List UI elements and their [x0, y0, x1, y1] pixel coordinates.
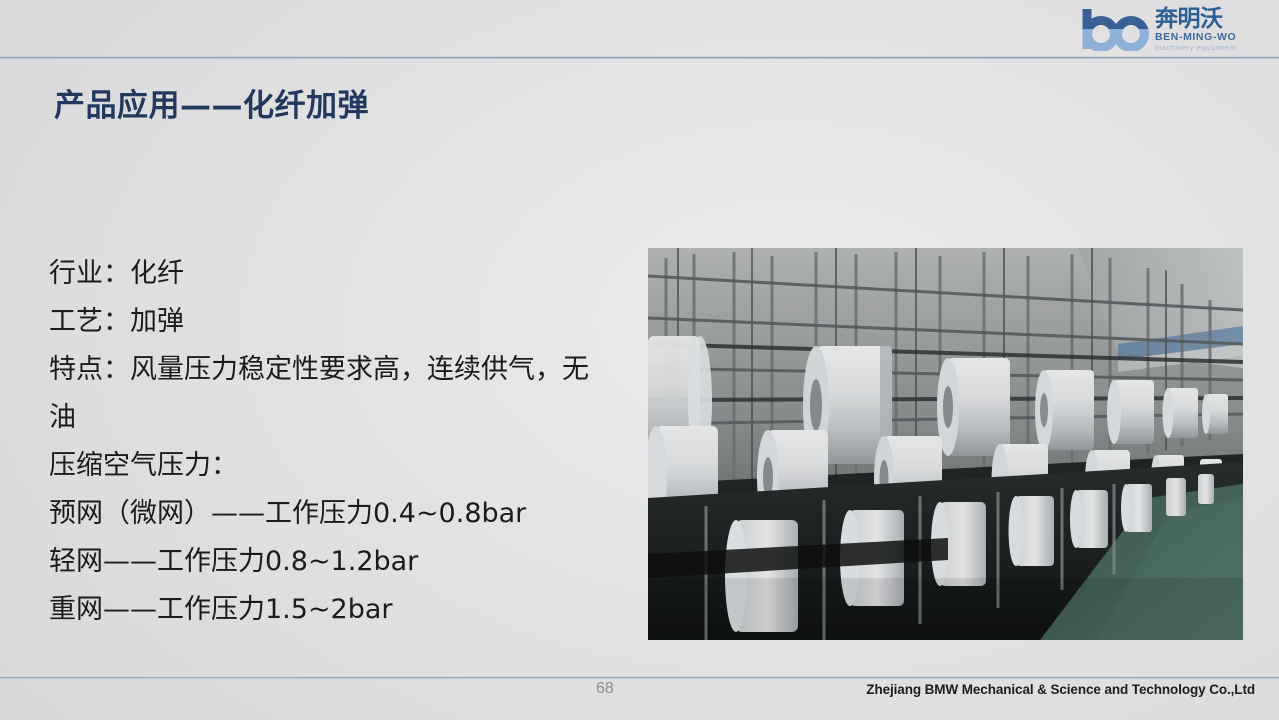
content-text-block: 行业：化纤 工艺：加弹 特点：风量压力稳定性要求高，连续供气，无油 压缩空气压力…	[49, 250, 609, 634]
company-logo: 奔明沃 BEN-MING-WO machinery equipment	[1081, 3, 1273, 55]
content-line-heavy-network: 重网——工作压力1.5~2bar	[49, 586, 609, 634]
page-number: 68	[596, 680, 614, 698]
content-line-process: 工艺：加弹	[49, 298, 609, 346]
page-title: 产品应用——化纤加弹	[54, 80, 369, 125]
bo-monogram-icon	[1081, 7, 1153, 51]
logo-tagline: machinery equipment	[1155, 43, 1236, 52]
chemical-fiber-texturing-machine-photo	[648, 248, 1243, 640]
content-line-pressure-heading: 压缩空气压力：	[49, 442, 609, 490]
content-line-light-network: 轻网——工作压力0.8~1.2bar	[49, 538, 609, 586]
content-line-industry: 行业：化纤	[49, 250, 609, 298]
logo-chinese-name: 奔明沃	[1155, 7, 1236, 31]
slide: 奔明沃 BEN-MING-WO machinery equipment 产品应用…	[0, 0, 1279, 720]
content-line-features: 特点：风量压力稳定性要求高，连续供气，无油	[49, 346, 605, 442]
header-divider-rule	[0, 56, 1279, 59]
footer-divider-rule	[0, 676, 1279, 679]
content-line-pre-network: 预网（微网）——工作压力0.4~0.8bar	[49, 490, 609, 538]
logo-wordmark: 奔明沃 BEN-MING-WO machinery equipment	[1155, 6, 1236, 52]
footer-company-name: Zhejiang BMW Mechanical & Science and Te…	[866, 682, 1255, 697]
logo-english-name: BEN-MING-WO	[1155, 31, 1236, 43]
